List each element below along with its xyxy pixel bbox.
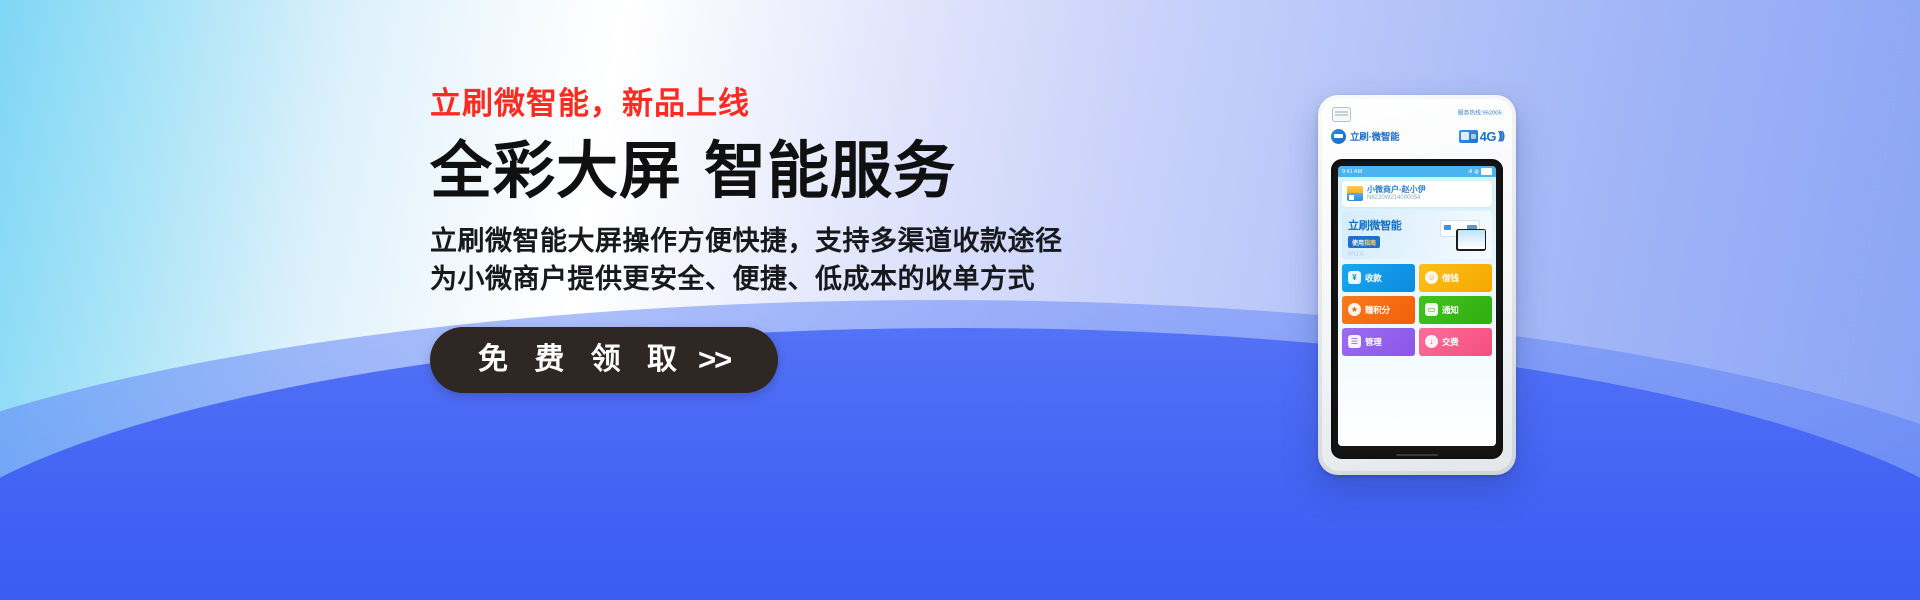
promo-banner: 立刷微智能，新品上线 全彩大屏智能服务 立刷微智能大屏操作方便快捷，支持多渠道收… (0, 0, 1920, 600)
promo-title: 立刷微智能 (1348, 220, 1402, 232)
printer-slot-icon (1332, 107, 1351, 122)
download-arrow-icon: ↓ (1425, 335, 1438, 348)
app-label: 管理 (1365, 336, 1382, 348)
promo-card[interactable]: 立刷微智能 使用指南 HUA (1342, 211, 1492, 259)
page-title: 全彩大屏智能服务 (430, 139, 1310, 204)
signal-waves-icon: ))) (1498, 130, 1503, 142)
app-label: 收款 (1365, 272, 1382, 284)
app-label: 交费 (1442, 336, 1459, 348)
promo-text: 立刷微智能 使用指南 (1348, 220, 1402, 250)
device-screen-bezel: 9:41 AM ıll ◍ 小微商户-赵小伊 N6220W214 (1331, 159, 1503, 459)
merchant-serial-number: N6220W214000054 (1367, 195, 1426, 203)
app-tile-zhuanjifen[interactable]: ★ 赚积分 (1342, 296, 1415, 324)
merchant-name: 小微商户-赵小伊 (1367, 185, 1426, 195)
app-tile-guanli[interactable]: ☰ 管理 (1342, 328, 1415, 356)
app-tile-jiaofei[interactable]: ↓ 交费 (1419, 328, 1492, 356)
sim-card-icon (1459, 130, 1478, 143)
status-icons: ıll ◍ (1468, 168, 1492, 175)
screen-content: 小微商户-赵小伊 N6220W214000054 立刷微智能 使用指南 HUA (1338, 177, 1496, 446)
banner-copy: 立刷微智能，新品上线 全彩大屏智能服务 立刷微智能大屏操作方便快捷，支持多渠道收… (430, 88, 1310, 393)
pos-terminal-device: 服务热线:952005 立刷·微智能 4G ))) 9:41 AM (1318, 95, 1516, 475)
battery-icon (1481, 168, 1492, 175)
device-body: 服务热线:952005 立刷·微智能 4G ))) 9:41 AM (1322, 99, 1512, 471)
subtitle-line-2: 为小微商户提供更安全、便捷、低成本的收单方式 (430, 260, 1310, 298)
device-screen[interactable]: 9:41 AM ıll ◍ 小微商户-赵小伊 N6220W214 (1338, 166, 1496, 446)
app-tile-tongzhi[interactable]: ▭ 通知 (1419, 296, 1492, 324)
merchant-card[interactable]: 小微商户-赵小伊 N6220W214000054 (1342, 181, 1492, 207)
device-top-panel: 服务热线:952005 立刷·微智能 4G ))) (1322, 99, 1512, 161)
shop-icon (1347, 186, 1363, 201)
guide-badge-prefix: 使用 (1352, 241, 1364, 247)
cta-label: 免 费 领 取 (478, 345, 686, 375)
device-brand-row: 立刷·微智能 4G ))) (1331, 125, 1503, 147)
app-grid: ¥ 收款 ☺ 借钱 ★ 赚积分 (1342, 264, 1492, 356)
app-tile-jieqian[interactable]: ☺ 借钱 (1419, 264, 1492, 292)
brand-logo-icon (1331, 129, 1346, 144)
wifi-icon: ◍ (1474, 169, 1479, 175)
yuan-icon: ¥ (1348, 271, 1361, 284)
app-label: 赚积分 (1365, 304, 1390, 316)
service-hotline-text: 服务热线:952005 (1458, 108, 1502, 117)
eyebrow-text: 立刷微智能，新品上线 (430, 88, 1310, 119)
promo-watermark: HUA (1348, 251, 1365, 258)
network-indicator: 4G ))) (1459, 129, 1503, 144)
signal-icon: ıll (1468, 169, 1472, 175)
guide-badge-suffix: 指南 (1364, 241, 1376, 247)
star-icon: ★ (1348, 303, 1361, 316)
home-indicator (1396, 454, 1438, 457)
smiley-icon: ☺ (1425, 271, 1438, 284)
promo-thumbnail (1440, 219, 1486, 251)
headline-part-1: 全彩大屏 (430, 137, 682, 206)
thumbnail-device-icon (1456, 229, 1486, 251)
status-time: 9:41 AM (1342, 169, 1362, 175)
merchant-info: 小微商户-赵小伊 N6220W214000054 (1367, 185, 1426, 203)
free-claim-button[interactable]: 免 费 领 取 >> (430, 327, 778, 393)
list-icon: ☰ (1348, 335, 1361, 348)
message-icon: ▭ (1425, 303, 1438, 316)
thumbnail-device-screen (1458, 230, 1485, 249)
double-chevron-right-icon: >> (698, 344, 730, 375)
app-label: 借钱 (1442, 272, 1459, 284)
app-label: 通知 (1442, 304, 1459, 316)
app-tile-shoukuan[interactable]: ¥ 收款 (1342, 264, 1415, 292)
headline-part-2: 智能服务 (704, 137, 956, 206)
brand-name: 立刷·微智能 (1350, 129, 1399, 143)
subtitle-line-1: 立刷微智能大屏操作方便快捷，支持多渠道收款途径 (430, 222, 1310, 260)
network-label: 4G (1480, 129, 1496, 144)
guide-badge[interactable]: 使用指南 (1348, 236, 1380, 248)
status-bar: 9:41 AM ıll ◍ (1338, 166, 1496, 177)
